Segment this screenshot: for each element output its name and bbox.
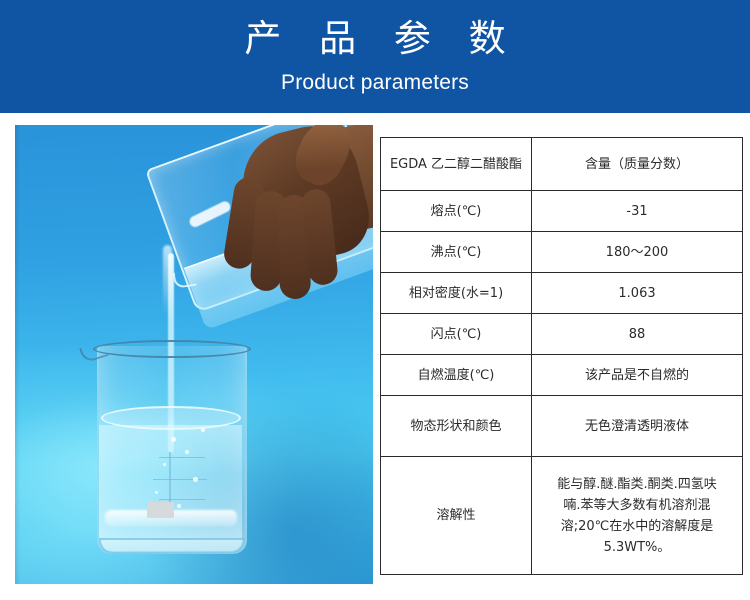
table-cell-label: 沸点(℃) [381,232,532,273]
hand [223,125,373,345]
table-cell-label: 自燃温度(℃) [381,355,532,396]
product-parameters-page: 产 品 参 数 Product parameters [0,0,750,600]
table-cell-value: 能与醇.醚.酯类.酮类.四氢呋喃.苯等大多数有机溶剂混溶;20℃在水中的溶解度是… [532,457,743,575]
table-row: 沸点(℃) 180～200 [381,232,743,273]
table-row: 闪点(℃) 88 [381,314,743,355]
table-cell-value: 180～200 [532,232,743,273]
graduation-mark [159,457,205,459]
bubble [163,463,166,466]
bubble [155,491,158,494]
table-row: 溶解性 能与醇.醚.酯类.酮类.四氢呋喃.苯等大多数有机溶剂混溶;20℃在水中的… [381,457,743,575]
liquid-surface [101,406,241,430]
table-cell-value: 含量（质量分数） [532,138,743,191]
table-row: 自燃温度(℃) 该产品是不自燃的 [381,355,743,396]
table-cell-label: EGDA 乙二醇二醋酸酯 [381,138,532,191]
beaker-base [99,538,245,554]
specification-table: EGDA 乙二醇二醋酸酯 含量（质量分数） 熔点(℃) -31 沸点(℃) 18… [380,137,743,575]
table-cell-value: 该产品是不自燃的 [532,355,743,396]
table-cell-value: 无色澄清透明液体 [532,396,743,457]
beaker-liquid [99,425,242,551]
bubble [201,428,205,432]
bubble [193,477,198,482]
page-subtitle: Product parameters [281,70,469,96]
beaker-rim [93,340,251,358]
page-title: 产 品 参 数 [231,17,518,61]
product-photo [15,125,373,584]
table-cell-label: 闪点(℃) [381,314,532,355]
table-cell-value: 1.063 [532,273,743,314]
bubble [177,504,181,508]
table-row: 熔点(℃) -31 [381,191,743,232]
table-row: 物态形状和颜色 无色澄清透明液体 [381,396,743,457]
table-row: EGDA 乙二醇二醋酸酯 含量（质量分数） [381,138,743,191]
table-cell-label: 熔点(℃) [381,191,532,232]
receiving-beaker [97,332,247,554]
table-row: 相对密度(水=1) 1.063 [381,273,743,314]
table-cell-value: -31 [532,191,743,232]
graduation-mark [153,479,207,481]
pouring-beaker-spout [173,270,197,289]
table-cell-value: 88 [532,314,743,355]
graduation-scale-line [169,452,171,504]
bubble [185,450,189,454]
bubble [171,437,176,442]
page-header-banner: 产 品 参 数 Product parameters [0,0,750,113]
graduation-mark [159,499,205,501]
table-cell-label: 溶解性 [381,457,532,575]
table-cell-label: 物态形状和颜色 [381,396,532,457]
table-cell-label: 相对密度(水=1) [381,273,532,314]
watermark-patch [147,502,174,518]
